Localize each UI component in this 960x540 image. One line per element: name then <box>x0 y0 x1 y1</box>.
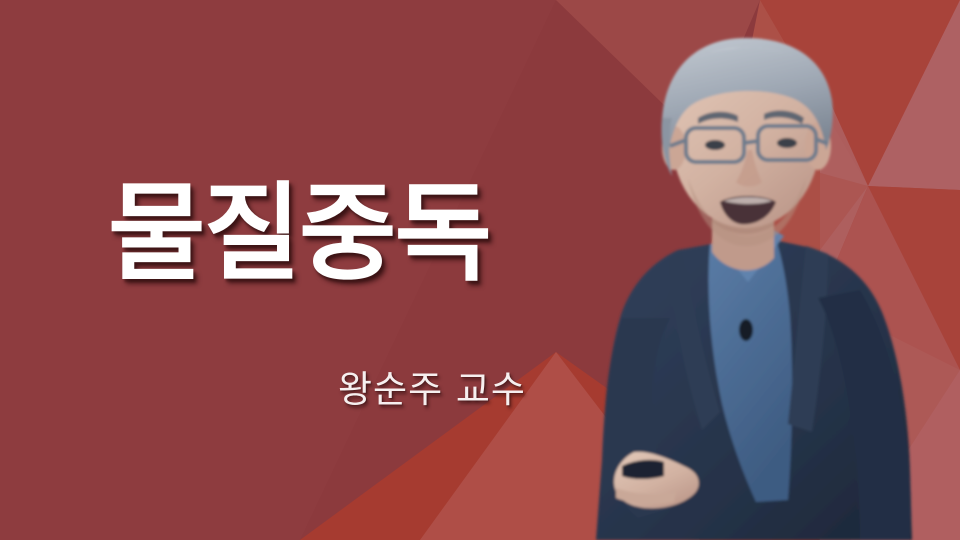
lapel-microphone-icon <box>739 319 753 341</box>
speaker-photo <box>560 0 960 540</box>
title-slide: 물질중독 왕순주 교수 <box>0 0 960 540</box>
eye-left <box>705 140 725 150</box>
page-title: 물질중독 <box>108 176 528 293</box>
eye-right <box>777 138 797 148</box>
presenter-name: 왕순주 교수 <box>338 368 526 412</box>
